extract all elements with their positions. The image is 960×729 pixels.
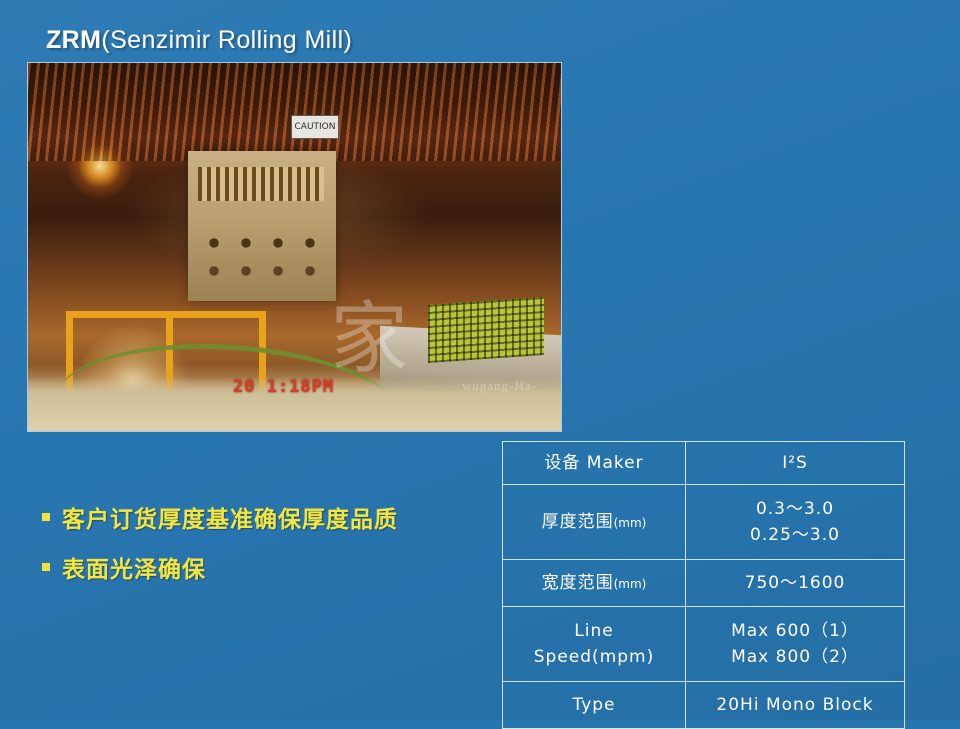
table-cell-label-text: Type — [572, 695, 615, 715]
table-cell-label-text: Speed(mpm) — [505, 644, 683, 670]
list-item: 表面光泽确保 — [42, 550, 472, 584]
page-title-bold: ZRM — [46, 26, 101, 54]
photo-timestamp: 20 1:18PM — [233, 377, 334, 397]
photo-control-panel — [188, 151, 336, 301]
table-row: 设备 Maker I²S — [503, 442, 905, 485]
table-cell-label-text: Line — [505, 618, 683, 644]
page-title-rest: (Senzimir Rolling Mill) — [101, 26, 352, 54]
table-cell-value-text: 750～1600 — [745, 573, 846, 593]
list-item: 客户订货厚度基准确保厚度品质 — [42, 500, 472, 534]
table-cell-value-text: Max 800（2） — [688, 644, 902, 670]
table-cell-label: 厚度范围(mm) — [503, 485, 686, 560]
table-cell-value-text: 0.25～3.0 — [688, 522, 902, 548]
spec-table: 设备 Maker I²S 厚度范围(mm) 0.3～3.0 0.25～3.0 宽… — [502, 441, 905, 729]
table-cell-value-text: 0.3～3.0 — [688, 496, 902, 522]
table-cell-label-text: 设备 Maker — [544, 453, 643, 473]
photo-roof-structure — [28, 63, 561, 161]
table-cell-label-text: 宽度范围 — [542, 573, 614, 593]
table-cell-value-text: 20Hi Mono Block — [716, 695, 873, 715]
table-cell-label-text: 厚度范围 — [542, 512, 614, 532]
bullet-text: 客户订货厚度基准确保厚度品质 — [62, 500, 398, 534]
slide-canvas: ZRM(Senzimir Rolling Mill) CAUTION 20 1:… — [0, 0, 960, 720]
table-cell-label: Type — [503, 682, 686, 729]
table-row: Type 20Hi Mono Block — [503, 682, 905, 729]
table-row: 厚度范围(mm) 0.3～3.0 0.25～3.0 — [503, 485, 905, 560]
table-cell-label: 设备 Maker — [503, 442, 686, 485]
table-row: Line Speed(mpm) Max 600（1） Max 800（2） — [503, 607, 905, 682]
table-cell-value: 750～1600 — [686, 560, 905, 607]
table-cell-value-text: I²S — [782, 453, 808, 473]
page-title: ZRM(Senzimir Rolling Mill) — [46, 26, 352, 55]
square-bullet-icon — [42, 563, 50, 571]
table-cell-value-text: Max 600（1） — [688, 618, 902, 644]
photo-perforated-guard — [428, 297, 544, 363]
table-cell-value: Max 600（1） Max 800（2） — [686, 607, 905, 682]
photo-caution-sign: CAUTION — [291, 115, 339, 139]
bullet-list: 客户订货厚度基准确保厚度品质 表面光泽确保 — [42, 500, 472, 600]
table-cell-unit: (mm) — [614, 516, 647, 530]
table-cell-label: 宽度范围(mm) — [503, 560, 686, 607]
table-row: 宽度范围(mm) 750～1600 — [503, 560, 905, 607]
bullet-text: 表面光泽确保 — [62, 550, 206, 584]
table-cell-unit: (mm) — [614, 577, 647, 591]
table-cell-value: 0.3～3.0 0.25～3.0 — [686, 485, 905, 560]
square-bullet-icon — [42, 513, 50, 521]
table-cell-label: Line Speed(mpm) — [503, 607, 686, 682]
mill-photo: CAUTION 20 1:18PM — [27, 62, 562, 432]
table-cell-value: I²S — [686, 442, 905, 485]
table-cell-value: 20Hi Mono Block — [686, 682, 905, 729]
